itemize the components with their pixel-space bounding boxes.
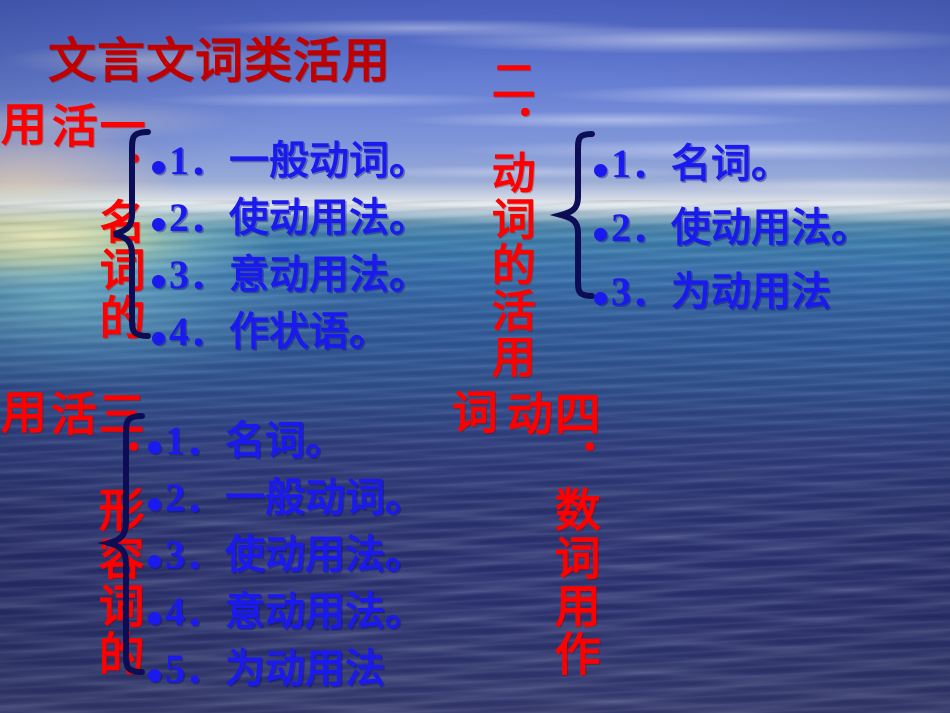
section-heading-numeral-wrap: 词 <box>447 388 495 446</box>
list-item: 3． 意动用法。 <box>152 246 429 303</box>
list-item: 3． 为动用法 <box>594 260 871 324</box>
list-item-text: 意动用法。 <box>225 583 425 640</box>
list-item-number: 3． <box>165 526 225 583</box>
list-item-number: 3． <box>611 260 671 324</box>
list-item-number: 2． <box>169 189 229 246</box>
bullet-icon <box>594 228 607 241</box>
bullet-icon <box>152 161 165 174</box>
list-item-number: 2． <box>165 469 225 526</box>
list-item: 4． 意动用法。 <box>148 583 425 640</box>
list-item: 3． 使动用法。 <box>148 526 425 583</box>
list-item: 1． 名词。 <box>594 132 871 196</box>
list-item-text: 名词。 <box>671 132 791 196</box>
list-item-text: 一般动词。 <box>229 132 429 189</box>
list-item: 4． 作状语。 <box>152 303 429 360</box>
list-verb: 1． 名词。 2． 使动用法。 3． 为动用法 <box>594 132 871 324</box>
bullet-icon <box>152 218 165 231</box>
list-item-number: 4． <box>169 303 229 360</box>
list-item-text: 使动用法。 <box>225 526 425 583</box>
list-item-number: 1． <box>165 412 225 469</box>
presentation-slide: 文言文词类活用 用 一．名词的活 1． 一般动词。 2． 使动用法。 3． <box>0 0 950 713</box>
bullet-icon <box>594 164 607 177</box>
bullet-icon <box>148 669 161 682</box>
list-item-text: 为动用法 <box>225 640 385 697</box>
slide-title: 文言文词类活用 <box>48 38 391 86</box>
list-item-number: 5． <box>165 640 225 697</box>
list-item-text: 作状语。 <box>229 303 389 360</box>
slide-content: 文言文词类活用 用 一．名词的活 1． 一般动词。 2． 使动用法。 3． <box>0 0 950 713</box>
list-adjective: 1． 名词。 2． 一般动词。 3． 使动用法。 4． 意动用法。 5． <box>148 412 425 697</box>
list-item-text: 为动用法 <box>671 260 831 324</box>
bullet-icon <box>152 332 165 345</box>
list-item-text: 使动用法。 <box>671 196 871 260</box>
list-item-number: 1． <box>169 132 229 189</box>
brace-noun <box>108 128 152 340</box>
list-item-text: 一般动词。 <box>225 469 425 526</box>
section-heading-adjective-wrap: 用 <box>0 388 44 446</box>
list-item-number: 3． <box>169 246 229 303</box>
bullet-icon <box>148 555 161 568</box>
section-heading-verb: 二．动词的活用 <box>486 58 532 388</box>
section-heading-numeral: 四．数词用作动 <box>502 390 598 710</box>
list-item-text: 使动用法。 <box>229 189 429 246</box>
list-item: 1． 一般动词。 <box>152 132 429 189</box>
list-item: 2． 一般动词。 <box>148 469 425 526</box>
list-item-text: 意动用法。 <box>229 246 429 303</box>
list-item-number: 4． <box>165 583 225 640</box>
brace-verb <box>556 130 596 300</box>
bullet-icon <box>148 441 161 454</box>
list-item: 2． 使动用法。 <box>594 196 871 260</box>
list-item: 1． 名词。 <box>148 412 425 469</box>
list-item-number: 2． <box>611 196 671 260</box>
brace-adjective <box>104 412 148 680</box>
list-noun: 1． 一般动词。 2． 使动用法。 3． 意动用法。 4． 作状语。 <box>152 132 429 360</box>
bullet-icon <box>594 292 607 305</box>
list-item-number: 1． <box>611 132 671 196</box>
list-item: 2． 使动用法。 <box>152 189 429 246</box>
list-item: 5． 为动用法 <box>148 640 425 697</box>
section-heading-noun-wrap: 用 <box>0 100 44 158</box>
bullet-icon <box>152 275 165 288</box>
bullet-icon <box>148 612 161 625</box>
bullet-icon <box>148 498 161 511</box>
list-item-text: 名词。 <box>225 412 345 469</box>
